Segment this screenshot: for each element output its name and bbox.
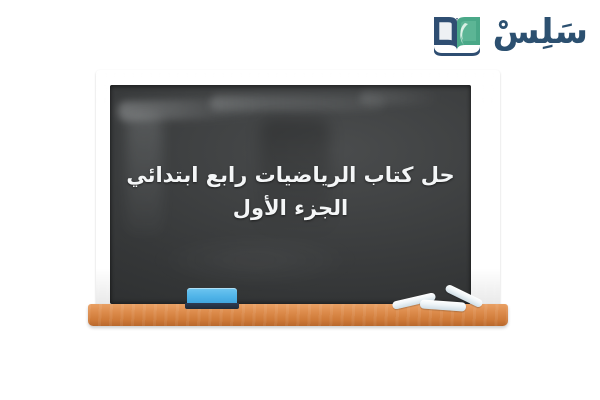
blackboard-headline: حل كتاب الرياضيات رابع ابتدائي الجزء الأ… (110, 159, 471, 224)
chalk-smudge (118, 96, 269, 121)
chalkboard-eraser (185, 288, 239, 310)
brand-wordmark: سَلِسْ (493, 15, 588, 49)
open-book-with-quill-icon (431, 10, 483, 56)
eraser-base (185, 303, 239, 309)
chalk-smudge (360, 91, 440, 105)
blackboard: حل كتاب الرياضيات رابع ابتدائي الجزء الأ… (88, 70, 508, 326)
chalk-smudge (150, 235, 360, 285)
chalk-stick (420, 299, 467, 311)
headline-line-2: الجزء الأول (124, 192, 457, 225)
headline-line-1: حل كتاب الرياضيات رابع ابتدائي (126, 163, 454, 187)
chalk-smudge (210, 95, 385, 111)
chalk-sticks (388, 285, 506, 313)
brand-logo[interactable]: سَلِسْ (431, 6, 588, 60)
blackboard-surface: حل كتاب الرياضيات رابع ابتدائي الجزء الأ… (110, 85, 471, 304)
eraser-body (187, 288, 237, 304)
